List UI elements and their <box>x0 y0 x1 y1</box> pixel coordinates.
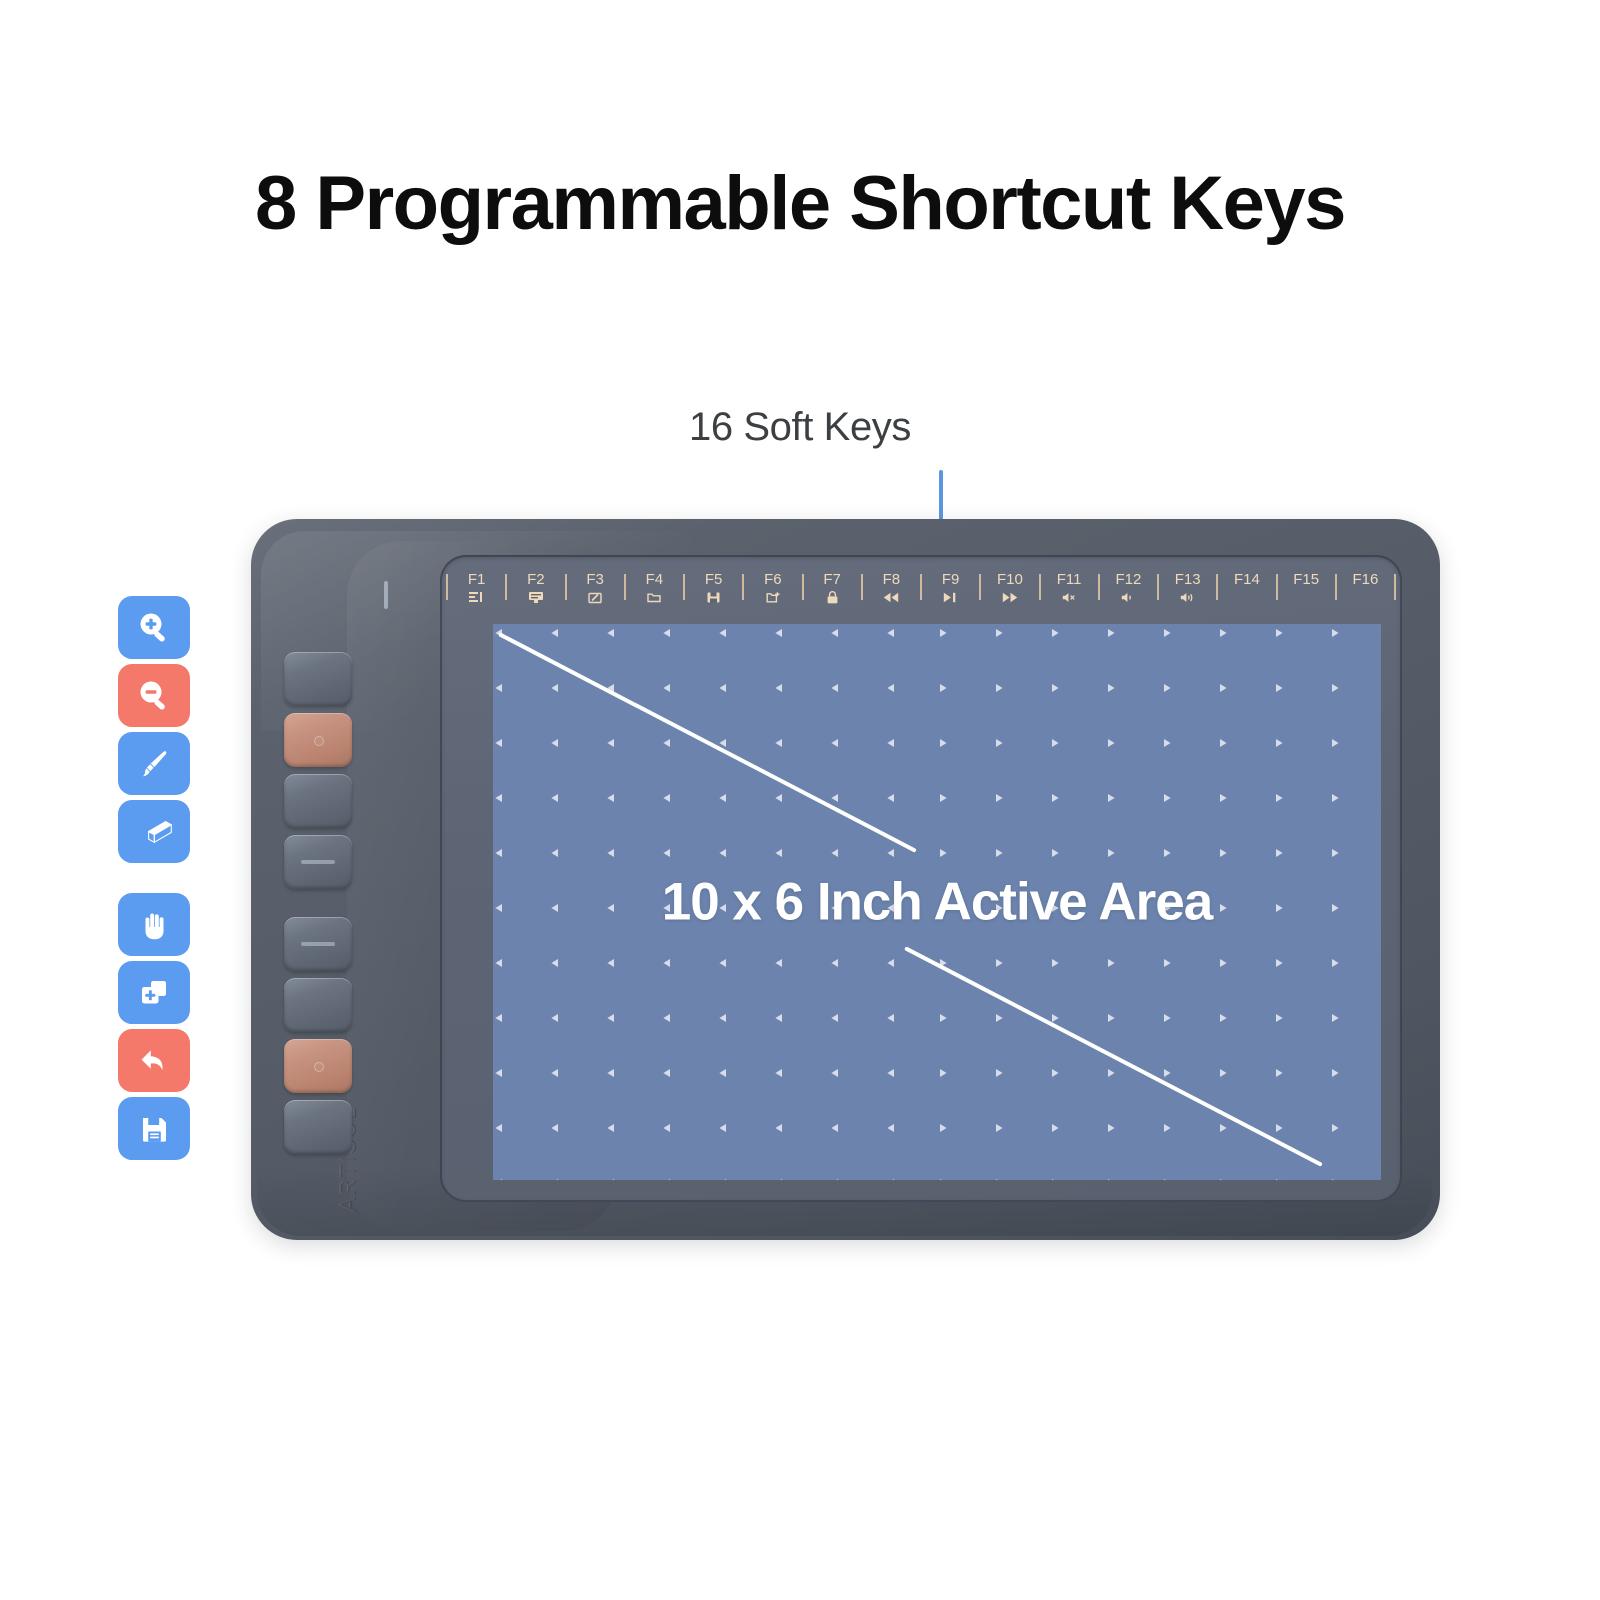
soft-key-divider <box>861 574 863 600</box>
soft-key-divider <box>1098 574 1100 600</box>
soft-key-f9[interactable]: F9 <box>920 571 979 615</box>
shortcut-badge-zoom-out[interactable] <box>118 664 190 727</box>
soft-key-divider-end <box>1394 574 1396 600</box>
screen-bezel: F1F2F3F4F5F6F7F8F9F10F11F12F13F14F15F16 … <box>440 555 1402 1202</box>
shortcut-badge-save[interactable] <box>118 1097 190 1160</box>
shortcut-badge-pan[interactable] <box>118 893 190 956</box>
soft-key-body: F16 <box>1337 571 1394 588</box>
brush-icon <box>134 744 174 784</box>
zoom-in-icon <box>134 608 174 648</box>
soft-key-f12[interactable]: F12 <box>1098 571 1157 615</box>
soft-key-label: F5 <box>705 571 723 588</box>
soft-key-f11[interactable]: F11 <box>1039 571 1098 615</box>
soft-key-label: F3 <box>586 571 604 588</box>
new-file-icon <box>766 589 780 605</box>
soft-key-divider <box>979 574 981 600</box>
shortcut-badge-zoom-in[interactable] <box>118 596 190 659</box>
soft-key-divider <box>565 574 567 600</box>
soft-key-divider <box>920 574 922 600</box>
soft-key-body: F1 <box>448 571 505 605</box>
soft-key-body: F2 <box>507 571 564 605</box>
soft-key-f3[interactable]: F3 <box>565 571 624 615</box>
key-dash-marker <box>301 942 335 946</box>
soft-key-label: F4 <box>646 571 664 588</box>
soft-key-label: F9 <box>942 571 960 588</box>
page-title: 8 Programmable Shortcut Keys <box>0 160 1600 247</box>
shortcut-badge-new-layer[interactable] <box>118 961 190 1024</box>
soft-key-divider <box>683 574 685 600</box>
soft-key-f15[interactable]: F15 <box>1276 571 1335 615</box>
shortcut-key-1[interactable] <box>284 652 352 706</box>
soft-key-body: F9 <box>922 571 979 605</box>
active-area-label: 10 x 6 Inch Active Area <box>493 872 1381 933</box>
soft-key-body: F7 <box>804 571 861 605</box>
soft-key-body: F14 <box>1218 571 1275 588</box>
soft-key-f8[interactable]: F8 <box>861 571 920 615</box>
save-icon <box>134 1109 174 1149</box>
fast-forward-icon <box>1002 589 1018 605</box>
soft-key-label: F1 <box>468 571 486 588</box>
shortcut-badge-eraser[interactable] <box>118 800 190 863</box>
soft-key-body: F13 <box>1159 571 1216 605</box>
soft-key-label: F12 <box>1115 571 1141 588</box>
zoom-out-icon <box>134 676 174 716</box>
soft-key-label: F11 <box>1057 571 1082 588</box>
physical-shortcut-key-column <box>284 652 352 1161</box>
shortcut-badge-list <box>118 596 190 1165</box>
key-dot-marker <box>314 736 324 746</box>
shortcut-key-8[interactable] <box>284 1100 352 1154</box>
shortcut-key-4[interactable] <box>284 835 352 889</box>
save-disk-icon <box>707 589 720 605</box>
soft-key-label: F2 <box>527 571 545 588</box>
soft-key-body: F8 <box>863 571 920 605</box>
soft-key-f2[interactable]: F2 <box>505 571 564 615</box>
soft-key-divider <box>505 574 507 600</box>
poster-canvas: 8 Programmable Shortcut Keys 16 Soft Key… <box>0 0 1600 1600</box>
soft-key-label: F6 <box>764 571 782 588</box>
soft-key-body: F4 <box>626 571 683 605</box>
soft-key-f13[interactable]: F13 <box>1157 571 1216 615</box>
volume-low-icon <box>1121 589 1135 605</box>
soft-key-divider <box>446 574 448 600</box>
shortcut-key-2[interactable] <box>284 713 352 767</box>
edit-icon <box>588 589 602 605</box>
active-drawing-area[interactable]: 10 x 6 Inch Active Area <box>493 624 1381 1180</box>
new-layer-icon <box>134 973 174 1013</box>
soft-key-body: F10 <box>981 571 1038 605</box>
soft-key-f16[interactable]: F16 <box>1335 571 1394 615</box>
soft-key-divider <box>802 574 804 600</box>
status-led-icon <box>384 581 388 609</box>
soft-key-divider <box>1039 574 1041 600</box>
soft-key-strip: F1F2F3F4F5F6F7F8F9F10F11F12F13F14F15F16 <box>440 571 1402 615</box>
shortcut-badge-brush[interactable] <box>118 732 190 795</box>
soft-key-label: F7 <box>823 571 841 588</box>
soft-key-divider <box>1335 574 1337 600</box>
soft-key-divider <box>1216 574 1218 600</box>
soft-key-f5[interactable]: F5 <box>683 571 742 615</box>
volume-mute-icon <box>1062 589 1077 605</box>
shortcut-badge-undo[interactable] <box>118 1029 190 1092</box>
soft-key-divider <box>742 574 744 600</box>
soft-key-f10[interactable]: F10 <box>979 571 1038 615</box>
eraser-icon <box>134 812 174 852</box>
hand-icon <box>134 905 174 945</box>
soft-key-body: F6 <box>744 571 801 605</box>
key-dot-marker <box>314 1062 324 1072</box>
shortcut-key-5[interactable] <box>284 917 352 971</box>
soft-key-body: F15 <box>1278 571 1335 588</box>
soft-key-divider <box>624 574 626 600</box>
play-pause-icon <box>943 589 958 605</box>
indent-icon <box>469 589 484 605</box>
soft-key-label: F8 <box>883 571 901 588</box>
soft-key-body: F12 <box>1100 571 1157 605</box>
soft-key-body: F5 <box>685 571 742 605</box>
callout-label: 16 Soft Keys <box>0 405 1600 450</box>
soft-key-f7[interactable]: F7 <box>802 571 861 615</box>
rewind-icon <box>883 589 899 605</box>
volume-high-icon <box>1180 589 1196 605</box>
lock-icon <box>827 589 838 605</box>
soft-key-label: F16 <box>1352 571 1378 588</box>
soft-key-label: F13 <box>1175 571 1201 588</box>
soft-key-body: F11 <box>1041 571 1098 605</box>
soft-key-divider <box>1157 574 1159 600</box>
shortcut-key-6[interactable] <box>284 978 352 1032</box>
soft-key-label: F10 <box>997 571 1023 588</box>
soft-key-f4[interactable]: F4 <box>624 571 683 615</box>
drawing-tablet: ARTISUL F1F2F3F4F5F6F7F8F9F10F11F12F13F1… <box>251 519 1440 1240</box>
shortcut-key-7[interactable] <box>284 1039 352 1093</box>
soft-key-body: F3 <box>567 571 624 605</box>
soft-key-label: F15 <box>1293 571 1319 588</box>
comment-icon <box>529 589 543 605</box>
soft-key-divider <box>1276 574 1278 600</box>
soft-key-label: F14 <box>1234 571 1260 588</box>
soft-key-f14[interactable]: F14 <box>1216 571 1275 615</box>
soft-key-f6[interactable]: F6 <box>742 571 801 615</box>
key-dash-marker <box>301 860 335 864</box>
shortcut-key-3[interactable] <box>284 774 352 828</box>
folder-open-icon <box>647 589 661 605</box>
soft-key-f1[interactable]: F1 <box>446 571 505 615</box>
undo-icon <box>134 1041 174 1081</box>
